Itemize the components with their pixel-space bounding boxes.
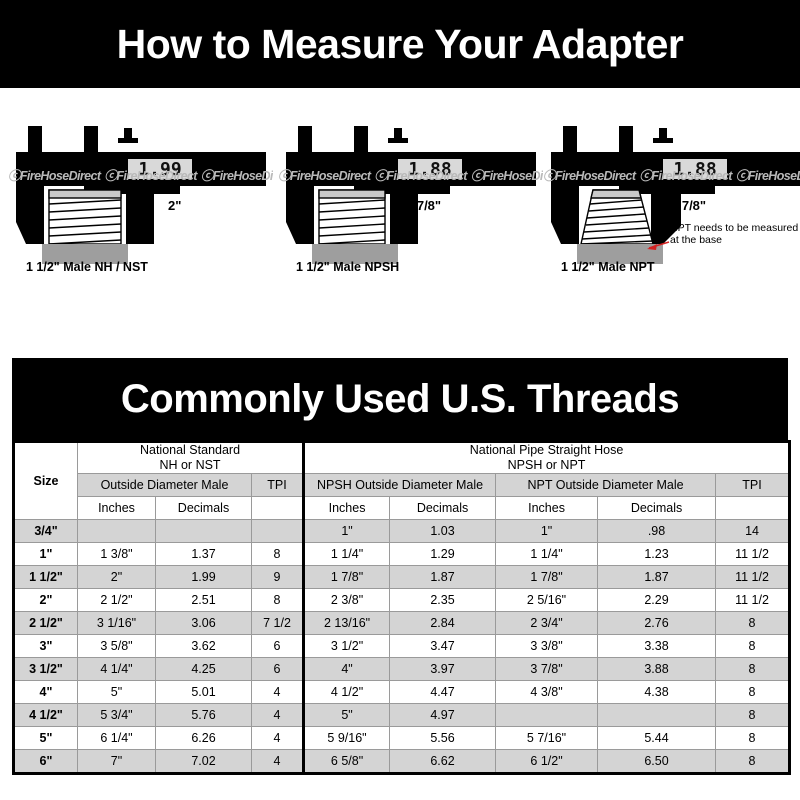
cell-npt_in: 1 1/4" [496,543,598,566]
cell-npt_dec: 3.88 [598,658,716,681]
cell-npt_tpi: 8 [716,704,790,727]
cell-nh_dec: 3.62 [156,635,252,658]
cell-nh_in: 2" [78,566,156,589]
cell-nh_dec: 1.37 [156,543,252,566]
cell-nh_in [78,520,156,543]
page-title-banner: How to Measure Your Adapter [0,0,800,88]
cell-nh_in: 5" [78,681,156,704]
caption-npsh: 1 1/2" Male NPSH [296,260,399,274]
cell-nh_in: 2 1/2" [78,589,156,612]
col-header-npt-decimals: Decimals [598,497,716,520]
group-header-ns-line2: NH or NST [78,458,302,473]
cell-nh_in: 3 1/16" [78,612,156,635]
cell-npt_tpi: 8 [716,635,790,658]
thread-profile-nh [49,190,121,244]
cell-npt_tpi: 8 [716,727,790,750]
table-sub-header-row: Outside Diameter Male TPI NPSH Outside D… [14,474,790,497]
cell-npt_dec [598,704,716,727]
col-header-npt-tpi-blank [716,497,790,520]
cell-nh_tpi: 6 [252,658,304,681]
cell-npsh_dec: 1.87 [390,566,496,589]
thread-profile-npsh [319,190,385,244]
cell-nh_dec: 1.99 [156,566,252,589]
cell-nh_tpi: 6 [252,635,304,658]
cell-nh_tpi: 7 1/2 [252,612,304,635]
col-header-npt-od: NPT Outside Diameter Male [496,474,716,497]
cell-npt_in: 4 3/8" [496,681,598,704]
cell-npsh_in: 6 5/8" [304,750,390,774]
threads-reference-table: Size National Standard NH or NST Nationa… [12,440,791,775]
cell-npt_tpi: 14 [716,520,790,543]
cell-size: 4" [14,681,78,704]
cell-nh_dec: 7.02 [156,750,252,774]
cell-npt_in [496,704,598,727]
cell-nh_dec [156,520,252,543]
group-header-national-pipe: National Pipe Straight Hose NPSH or NPT [304,442,790,474]
caliper-display-value-npt: 1.88 [673,159,716,180]
cell-npt_in: 3 3/8" [496,635,598,658]
cell-npt_tpi: 8 [716,750,790,774]
cell-nh_tpi: 8 [252,543,304,566]
group-header-national-standard: National Standard NH or NST [78,442,304,474]
cell-npt_in: 3 7/8" [496,658,598,681]
diagram-nh-nst: 1.99 ⓒFireHoseDirectⓒFireHoseDirectⓒFire… [8,88,273,358]
cell-nh_dec: 4.25 [156,658,252,681]
thread-profile-npt [581,190,653,244]
cell-npsh_dec: 6.62 [390,750,496,774]
cell-npsh_dec: 1.29 [390,543,496,566]
cell-npt_dec: 5.44 [598,727,716,750]
col-header-npt-inches: Inches [496,497,598,520]
cell-npt_tpi: 8 [716,681,790,704]
cell-npt_tpi: 8 [716,612,790,635]
table-row: 4"5"5.0144 1/2"4.474 3/8"4.388 [14,681,790,704]
cell-npsh_in: 3 1/2" [304,635,390,658]
cell-nh_dec: 3.06 [156,612,252,635]
cell-npsh_dec: 4.47 [390,681,496,704]
cell-npt_in: 2 3/4" [496,612,598,635]
cell-npt_dec: 3.38 [598,635,716,658]
page-title: How to Measure Your Adapter [117,21,684,68]
cell-npt_dec: 4.38 [598,681,716,704]
table-row: 5"6 1/4"6.2645 9/16"5.565 7/16"5.448 [14,727,790,750]
cell-npsh_in: 5" [304,704,390,727]
cell-size: 6" [14,750,78,774]
cell-npt_in: 5 7/16" [496,727,598,750]
npt-measurement-note: NPT needs to be measured at the base [670,222,800,246]
cell-nh_in: 6 1/4" [78,727,156,750]
cell-npsh_in: 1 7/8" [304,566,390,589]
col-header-npsh-decimals: Decimals [390,497,496,520]
cell-nh_in: 5 3/4" [78,704,156,727]
cell-nh_in: 4 1/4" [78,658,156,681]
threads-title: Commonly Used U.S. Threads [121,377,679,422]
cell-npsh_in: 1 1/4" [304,543,390,566]
cell-npsh_dec: 1.03 [390,520,496,543]
cell-npt_in: 1 7/8" [496,566,598,589]
threads-title-banner: Commonly Used U.S. Threads [12,358,788,440]
cell-npt_dec: 1.87 [598,566,716,589]
cell-nh_tpi: 9 [252,566,304,589]
cell-npt_dec: 2.29 [598,589,716,612]
table-row: 2 1/2"3 1/16"3.067 1/22 13/16"2.842 3/4"… [14,612,790,635]
cell-npt_tpi: 11 1/2 [716,543,790,566]
caliper-display-value-npsh: 1.88 [408,159,451,180]
cell-npsh_dec: 2.84 [390,612,496,635]
col-header-nh-decimals: Decimals [156,497,252,520]
caliper-diagrams-section: FireHoseDirect [0,88,800,358]
cell-nh_tpi: 4 [252,704,304,727]
cell-nh_tpi: 4 [252,727,304,750]
cell-npsh_in: 2 13/16" [304,612,390,635]
dimension-label-npt: 1 7/8" [671,198,706,213]
cell-npt_tpi: 8 [716,658,790,681]
cell-size: 1" [14,543,78,566]
diagram-npsh: 1.88 ⓒFireHoseDirectⓒFireHoseDirectⓒFire… [278,88,543,358]
cell-size: 1 1/2" [14,566,78,589]
cell-npt_tpi: 11 1/2 [716,566,790,589]
cell-npsh_dec: 3.47 [390,635,496,658]
caption-nh-nst: 1 1/2" Male NH / NST [26,260,148,274]
cell-size: 3/4" [14,520,78,543]
cell-npsh_in: 2 3/8" [304,589,390,612]
cell-size: 2" [14,589,78,612]
cell-npt_tpi: 11 1/2 [716,589,790,612]
cell-npsh_in: 5 9/16" [304,727,390,750]
table-row: 4 1/2"5 3/4"5.7645"4.978 [14,704,790,727]
cell-npt_dec: .98 [598,520,716,543]
col-header-nh-tpi-blank [252,497,304,520]
cell-npsh_dec: 5.56 [390,727,496,750]
col-header-nh-inches: Inches [78,497,156,520]
diagram-npt: 1.88 [543,88,800,358]
cell-nh_dec: 6.26 [156,727,252,750]
table-row: 6"7"7.0246 5/8"6.626 1/2"6.508 [14,750,790,774]
col-header-nh-tpi: TPI [252,474,304,497]
cell-nh_dec: 5.76 [156,704,252,727]
table-row: 3"3 5/8"3.6263 1/2"3.473 3/8"3.388 [14,635,790,658]
group-header-np-line2: NPSH or NPT [305,458,788,473]
cell-npt_dec: 2.76 [598,612,716,635]
group-header-ns-line1: National Standard [78,443,302,458]
col-header-npsh-inches: Inches [304,497,390,520]
cell-size: 5" [14,727,78,750]
col-header-size: Size [14,442,78,520]
table-row: 2"2 1/2"2.5182 3/8"2.352 5/16"2.2911 1/2 [14,589,790,612]
cell-npsh_dec: 2.35 [390,589,496,612]
cell-npt_dec: 6.50 [598,750,716,774]
table-row: 3/4"1"1.031".9814 [14,520,790,543]
caliper-display-value-nh: 1.99 [138,159,181,180]
dimension-label-nh: 2" [168,198,181,213]
col-header-npt-tpi: TPI [716,474,790,497]
cell-size: 3" [14,635,78,658]
cell-size: 4 1/2" [14,704,78,727]
cell-nh_in: 1 3/8" [78,543,156,566]
poster-root: How to Measure Your Adapter FireHoseDire… [0,0,800,800]
cell-npsh_in: 1" [304,520,390,543]
cell-size: 3 1/2" [14,658,78,681]
group-header-np-line1: National Pipe Straight Hose [305,443,788,458]
cell-npsh_in: 4 1/2" [304,681,390,704]
table-row: 1 1/2"2"1.9991 7/8"1.871 7/8"1.8711 1/2 [14,566,790,589]
cell-nh_tpi [252,520,304,543]
cell-nh_dec: 2.51 [156,589,252,612]
cell-nh_dec: 5.01 [156,681,252,704]
table-body: 3/4"1"1.031".98141"1 3/8"1.3781 1/4"1.29… [14,520,790,774]
table-group-header-row: Size National Standard NH or NST Nationa… [14,442,790,474]
cell-npt_in: 6 1/2" [496,750,598,774]
table-row: 3 1/2"4 1/4"4.2564"3.973 7/8"3.888 [14,658,790,681]
cell-npt_in: 2 5/16" [496,589,598,612]
table-head: Size National Standard NH or NST Nationa… [14,442,790,520]
col-header-npsh-od: NPSH Outside Diameter Male [304,474,496,497]
cell-nh_tpi: 8 [252,589,304,612]
table-row: 1"1 3/8"1.3781 1/4"1.291 1/4"1.2311 1/2 [14,543,790,566]
col-header-nh-od: Outside Diameter Male [78,474,252,497]
cell-npt_in: 1" [496,520,598,543]
cell-nh_tpi: 4 [252,681,304,704]
cell-npsh_in: 4" [304,658,390,681]
cell-npsh_dec: 4.97 [390,704,496,727]
cell-nh_in: 3 5/8" [78,635,156,658]
cell-nh_tpi: 4 [252,750,304,774]
cell-nh_in: 7" [78,750,156,774]
dimension-label-npsh: 1 7/8" [406,198,441,213]
caption-npt: 1 1/2" Male NPT [561,260,654,274]
cell-npsh_dec: 3.97 [390,658,496,681]
table-unit-header-row: Inches Decimals Inches Decimals Inches D… [14,497,790,520]
cell-npt_dec: 1.23 [598,543,716,566]
cell-size: 2 1/2" [14,612,78,635]
